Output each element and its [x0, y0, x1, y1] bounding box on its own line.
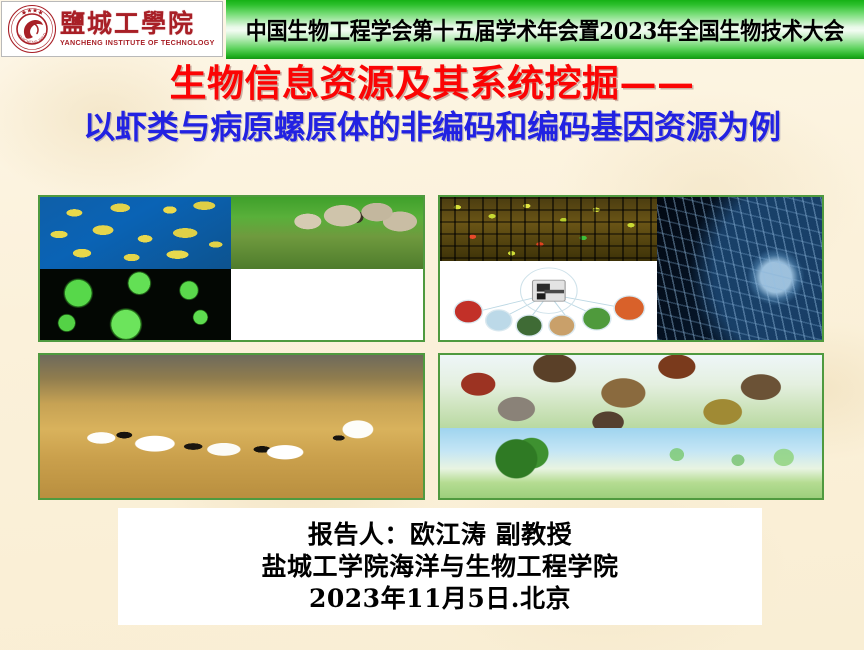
dna-binary-tunnel-image — [657, 197, 822, 340]
logo-institution-cn: 鹽城工學院 — [60, 11, 212, 36]
bacteria-micrograph-image — [40, 197, 231, 269]
image-collage — [38, 195, 824, 500]
logo-wordmark: 鹽城工學院 YANCHENG INSTITUTE OF TECHNOLOGY — [60, 11, 212, 47]
plankton-specimens-image — [231, 269, 422, 341]
collage-panel-left-bottom — [38, 353, 425, 500]
dna-microarray-image — [440, 197, 658, 261]
agriculture-resources-collage-image — [440, 355, 823, 428]
collage-left-half — [38, 195, 425, 500]
presenter-info-box: 报告人：欧江涛 副教授 盐城工学院海洋与生物工程学院 2023年11月5日.北京 — [118, 508, 762, 625]
red-crowned-cranes-image — [40, 355, 423, 498]
collage-panel-left-top — [38, 195, 425, 342]
eco-tree-banner-image — [440, 428, 823, 498]
slide-title-sub: 以虾类与病原螺原体的非编码和编码基因资源为例 — [0, 110, 864, 145]
slide-header: YANCHENG INSTITUTE OF TECH 鹽城工學院 YANCHEN… — [0, 0, 864, 59]
biotech-network-diagram-image — [440, 261, 658, 340]
presenter-affiliation-line: 盐城工学院海洋与生物工程学院 — [261, 552, 618, 582]
presentation-slide: YANCHENG INSTITUTE OF TECH 鹽城工學院 YANCHEN… — [0, 0, 864, 650]
collage-right-half — [438, 195, 825, 500]
slide-title-main: 生物信息资源及其系统挖掘—— — [0, 63, 864, 104]
presenter-name-line: 报告人：欧江涛 副教授 — [308, 520, 572, 550]
logo-institution-en: YANCHENG INSTITUTE OF TECHNOLOGY — [60, 40, 215, 47]
collage-panel-right-bottom — [438, 353, 825, 500]
university-seal-icon: YANCHENG INSTITUTE OF TECH — [7, 4, 57, 54]
collage-panel-right-top — [438, 195, 825, 342]
institution-logo-box: YANCHENG INSTITUTE OF TECH 鹽城工學院 YANCHEN… — [1, 1, 223, 57]
mushroom-photo-image — [231, 197, 422, 269]
conference-banner: 中国生物工程学会第十五届学术年会置2023年全国生物技术大会 — [226, 0, 864, 59]
conference-banner-text: 中国生物工程学会第十五届学术年会置2023年全国生物技术大会 — [246, 13, 844, 47]
virus-particles-image — [40, 269, 231, 341]
title-block: 生物信息资源及其系统挖掘—— 以虾类与病原螺原体的非编码和编码基因资源为例 — [0, 63, 864, 146]
presentation-date-line: 2023年11月5日.北京 — [309, 584, 571, 614]
